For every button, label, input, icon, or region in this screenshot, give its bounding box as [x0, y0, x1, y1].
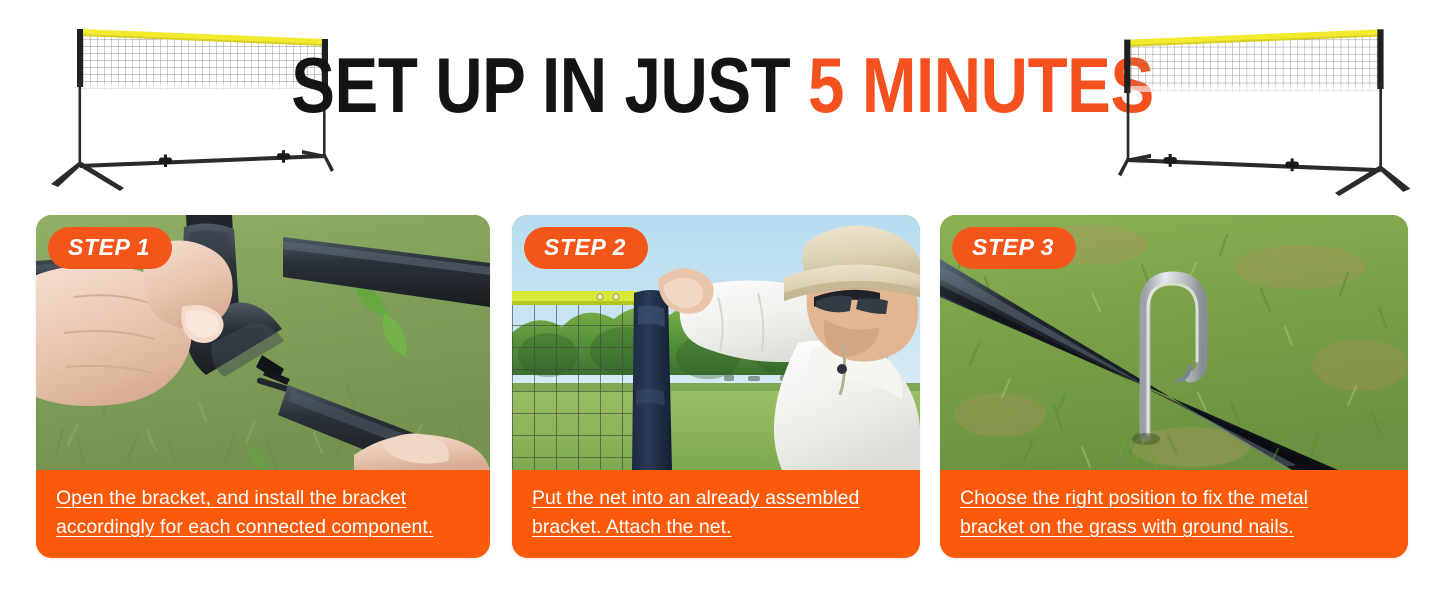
page-title-accent-part: 5 MINUTES: [808, 41, 1154, 129]
step-1-badge: STEP 1: [48, 227, 172, 269]
step-3-photo: STEP 3: [940, 215, 1408, 470]
step-1-caption: Open the bracket, and install the bracke…: [36, 470, 490, 558]
step-2-caption: Put the net into an already assembled br…: [512, 470, 920, 558]
step-3-caption: Choose the right position to fix the met…: [940, 470, 1408, 558]
steps-row: STEP 1 Open the bracket, and install the…: [0, 215, 1445, 560]
step-3-badge: STEP 3: [952, 227, 1076, 269]
step-2-photo: STEP 2: [512, 215, 920, 470]
header-band: SET UP IN JUST 5 MINUTES: [0, 0, 1445, 205]
step-card-1: STEP 1 Open the bracket, and install the…: [36, 215, 490, 558]
badminton-net-illustration-right: [1118, 18, 1428, 198]
step-1-caption-line-2: accordingly for each connected component…: [56, 513, 472, 542]
step-1-photo: STEP 1: [36, 215, 490, 470]
page-title-dark-part: SET UP IN JUST: [291, 41, 808, 129]
infographic-page: SET UP IN JUST 5 MINUTES: [0, 0, 1445, 592]
step-3-caption-line-1: Choose the right position to fix the met…: [960, 484, 1390, 513]
step-1-caption-line-1: Open the bracket, and install the bracke…: [56, 484, 472, 513]
step-card-2: STEP 2 Put the net into an already assem…: [512, 215, 920, 558]
step-2-caption-line-1: Put the net into an already assembled: [532, 484, 902, 513]
step-card-3: STEP 3 Choose the right position to fix …: [940, 215, 1408, 558]
step-2-caption-line-2: bracket. Attach the net.: [532, 513, 902, 542]
step-2-badge: STEP 2: [524, 227, 648, 269]
step-3-caption-line-2: bracket on the grass with ground nails.: [960, 513, 1390, 542]
